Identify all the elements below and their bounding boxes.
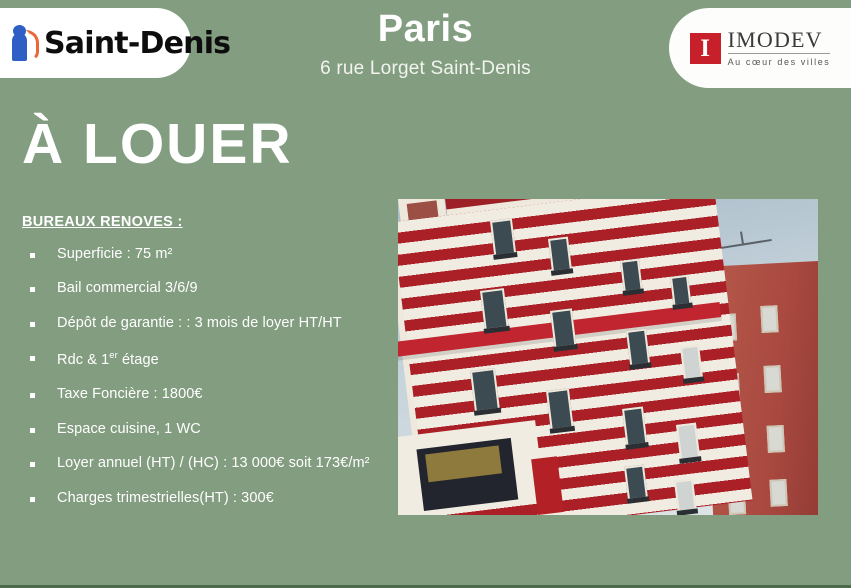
photo-window [620,259,643,293]
bullet-icon [30,253,35,258]
list-item: Taxe Foncière : 1800€ [22,386,412,403]
details-heading: BUREAUX RENOVES : [22,214,412,230]
imodev-logo-text: IMODEV [728,29,831,54]
photo-window [480,288,509,331]
list-item-label: Dépôt de garantie : : 3 mois de loyer HT… [57,315,342,332]
list-item-label: Taxe Foncière : 1800€ [57,386,203,403]
photo-window [490,218,516,256]
imodev-logo-panel: I IMODEV Au cœur des villes [669,8,851,88]
photo-window [670,275,692,307]
list-item: Superficie : 75 m² [22,246,412,263]
imodev-monogram-icon: I [690,33,721,64]
photo-window [626,329,650,367]
bullet-icon [30,322,35,327]
details-section: BUREAUX RENOVES : Superficie : 75 m² Bai… [22,214,412,524]
list-item: Espace cuisine, 1 WC [22,421,412,438]
photo-window [624,465,648,501]
photo-window [622,406,647,446]
photo-window [546,388,574,431]
bullet-icon [30,356,35,361]
photo-window [680,345,703,381]
list-item: Dépôt de garantie : : 3 mois de loyer HT… [22,315,412,332]
headline-a-louer: À LOUER [22,116,293,173]
list-item: Charges trimestrielles(HT) : 300€ [22,490,412,507]
bullet-icon [30,393,35,398]
list-item-label: Charges trimestrielles(HT) : 300€ [57,490,274,507]
building-photo [398,199,818,515]
list-item: Loyer annuel (HT) / (HC) : 13 000€ soit … [22,455,412,472]
list-item-label: Bail commercial 3/6/9 [57,280,198,297]
bullet-icon [30,428,35,433]
list-item-label: Loyer annuel (HT) / (HC) : 13 000€ soit … [57,455,370,472]
photo-window [548,237,572,273]
list-item: Bail commercial 3/6/9 [22,280,412,297]
photo-window [674,479,697,513]
list-item-label: Espace cuisine, 1 WC [57,421,201,438]
bullet-icon [30,287,35,292]
photo-window [676,423,700,461]
bullet-icon [30,497,35,502]
list-item: Rdc & 1er étage [22,349,412,369]
list-item-label: Superficie : 75 m² [57,246,172,263]
list-item-label: Rdc & 1er étage [57,349,159,369]
photo-garage-door [416,438,518,511]
property-listing-poster: Saint-Denis Paris 6 rue Lorget Saint-Den… [0,0,851,588]
photo-window [550,308,576,348]
bullet-icon [30,462,35,467]
imodev-tagline: Au cœur des villes [728,54,831,67]
photo-window [470,368,500,413]
